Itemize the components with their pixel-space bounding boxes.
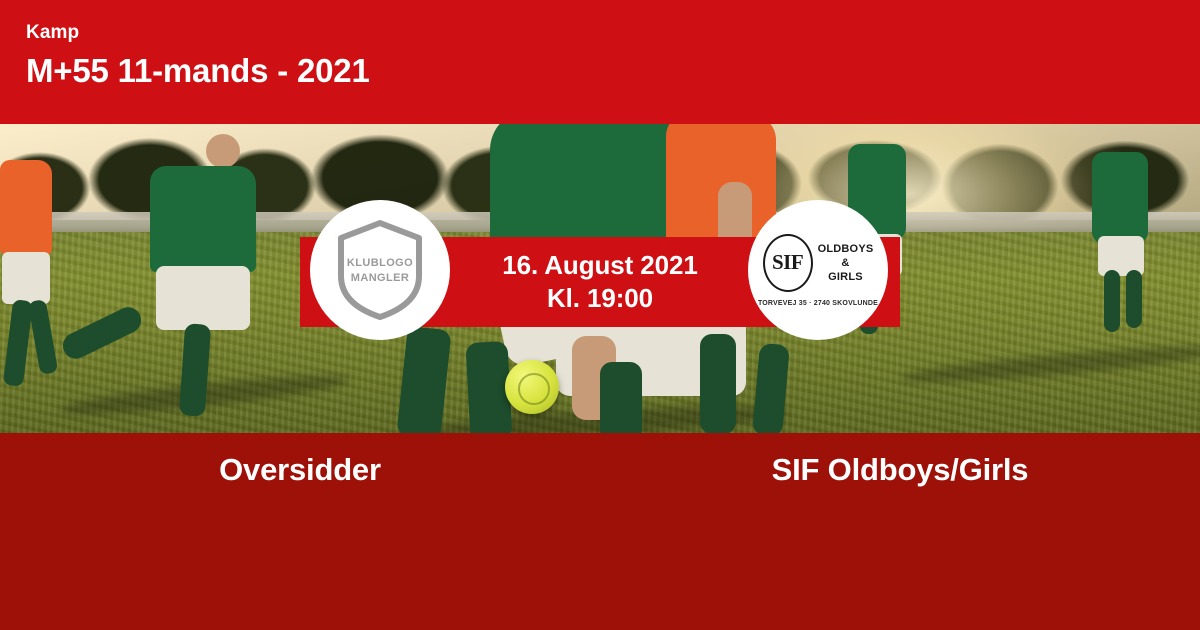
photo-player [156,266,250,330]
placeholder-line-1: KLUBLOGO [347,256,413,271]
home-team-name: Oversidder [0,448,600,492]
poster-header: Kamp M+55 11-mands - 2021 [0,0,1200,124]
away-team-name: SIF Oldboys/Girls [600,448,1200,492]
team-names-row: Oversidder SIF Oldboys/Girls [0,448,1200,492]
away-club-logo: SIF OLDBOYS & GIRLS TORVEVEJ 35 · 2740 S… [748,200,888,340]
sif-logo-main: SIF OLDBOYS & GIRLS [763,234,874,292]
home-logo-placeholder-text: KLUBLOGO MANGLER [347,256,413,286]
teams-band: Oversidder SIF Oldboys/Girls DANSK · BOL… [0,433,1200,630]
photo-player [1126,270,1142,328]
photo-player [1092,152,1148,244]
sif-word-oldboys: OLDBOYS [818,242,874,256]
football [505,360,559,414]
shield-placeholder: KLUBLOGO MANGLER [334,218,426,322]
photo-player [700,334,736,433]
photo-player [150,166,256,272]
sif-wordmark: OLDBOYS & GIRLS [818,242,874,284]
photo-player [2,252,50,304]
home-club-logo: KLUBLOGO MANGLER [310,200,450,340]
photo-player [206,134,240,168]
photo-player [1104,270,1120,332]
sif-monogram-oval: SIF [763,234,813,292]
match-time: Kl. 19:00 [547,282,653,315]
match-date: 16. August 2021 [502,249,698,282]
sif-word-ampersand: & [818,256,874,270]
page-title: M+55 11-mands - 2021 [26,50,1200,92]
placeholder-line-2: MANGLER [347,271,413,286]
sif-word-girls: GIRLS [818,270,874,284]
sif-logo: SIF OLDBOYS & GIRLS TORVEVEJ 35 · 2740 S… [755,224,881,316]
photo-player [600,362,642,433]
sif-address: TORVEVEJ 35 · 2740 SKOVLUNDE [758,300,878,307]
match-poster: Kamp M+55 11-mands - 2021 [0,0,1200,630]
header-kicker: Kamp [26,22,1200,44]
photo-player [0,160,52,256]
sif-monogram: SIF [772,250,803,275]
